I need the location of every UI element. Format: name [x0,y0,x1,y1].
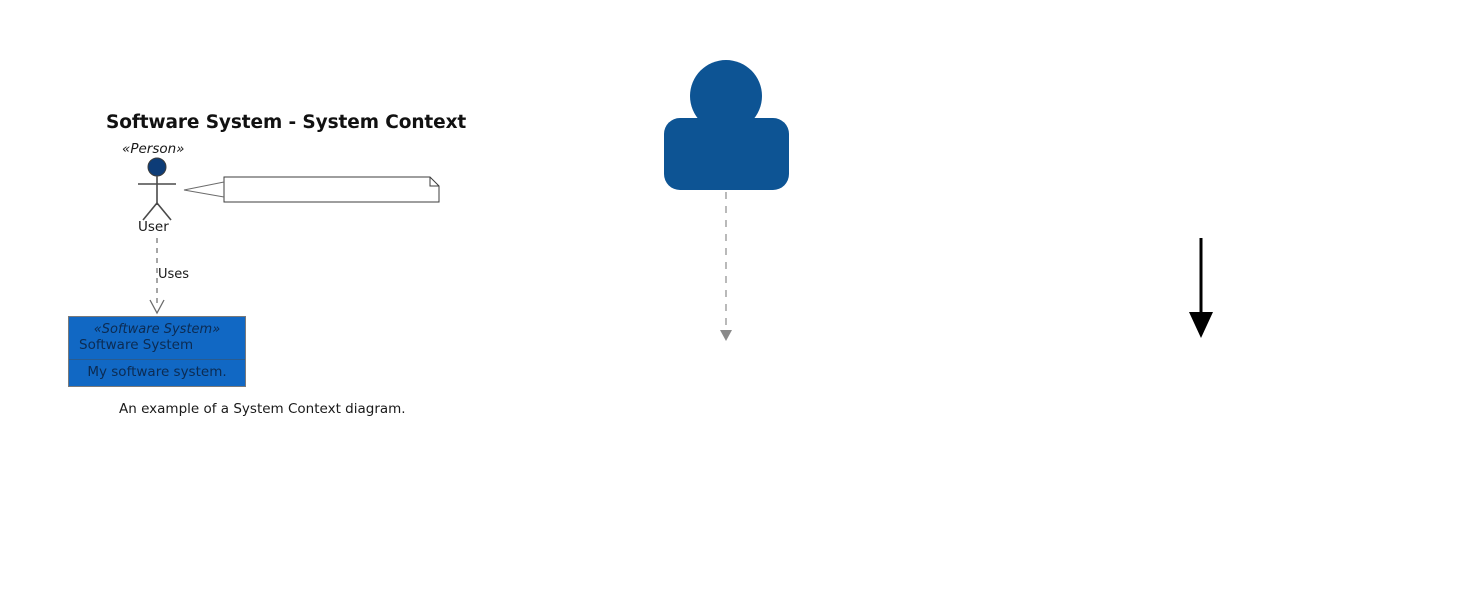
uml-actor-label: User [138,219,169,235]
uml-system-name: Software System [79,337,193,353]
uml-system-divider [69,359,245,360]
uml-system-description: My software system. [69,364,245,380]
panel-plain-diagram: Software System - System Context User Us… [980,0,1459,596]
panel-c4-diagram: User [Person] A user of my software syst… [510,0,980,596]
uml-system-stereotype: «Software System» [69,322,245,337]
uml-actor-stereotype: «Person» [122,141,185,157]
uml-software-system-box: «Software System» Software System My sof… [68,316,246,387]
uml-diagram-caption: An example of a System Context diagram. [119,401,406,417]
uml-relationship-label: Uses [158,267,189,282]
uml-note-text: A user of my software system. [232,182,437,198]
uml-diagram-title: Software System - System Context [106,112,466,133]
panel-uml-diagram: Software System - System Context «Person… [0,0,510,596]
